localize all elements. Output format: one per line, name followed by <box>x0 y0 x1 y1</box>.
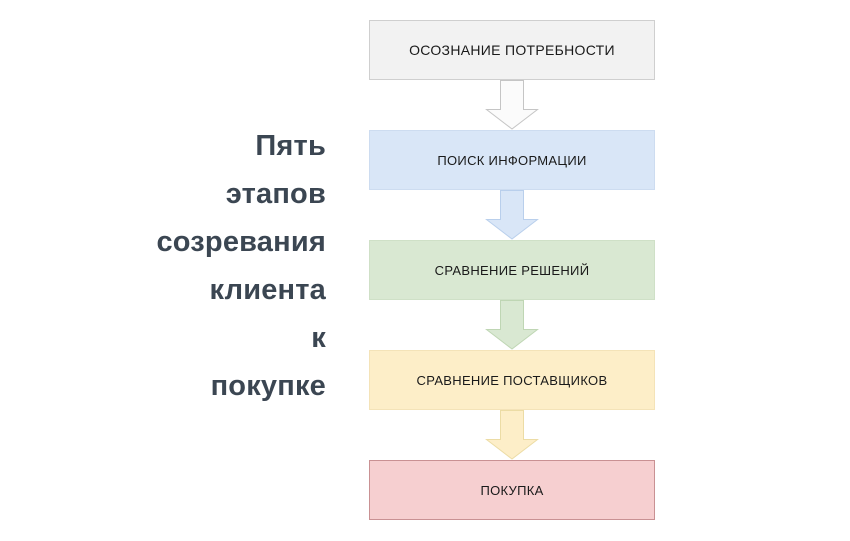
arrow-down-icon <box>487 301 538 350</box>
title-line-5: к <box>120 314 326 362</box>
title-line-3: созревания <box>120 218 326 266</box>
flow-arrow-2 <box>482 190 542 240</box>
arrow-down-icon <box>487 411 538 460</box>
flow-arrow-3 <box>482 300 542 350</box>
stage-box-1[interactable]: ОСОЗНАНИЕ ПОТРЕБНОСТИ <box>369 20 655 80</box>
stage-box-4[interactable]: СРАВНЕНИЕ ПОСТАВЩИКОВ <box>369 350 655 410</box>
flowchart: ОСОЗНАНИЕ ПОТРЕБНОСТИ ПОИСК ИНФОРМАЦИИ С… <box>369 20 655 521</box>
arrow-down-icon <box>487 81 538 130</box>
page-title: Пять этапов созревания клиента к покупке <box>120 122 326 410</box>
stage-label-2: ПОИСК ИНФОРМАЦИИ <box>437 153 586 168</box>
title-line-1: Пять <box>120 122 326 170</box>
flow-arrow-1 <box>482 80 542 130</box>
title-line-2: этапов <box>120 170 326 218</box>
arrow-down-icon <box>487 191 538 240</box>
stage-label-1: ОСОЗНАНИЕ ПОТРЕБНОСТИ <box>409 42 615 58</box>
stage-label-5: ПОКУПКА <box>480 483 543 498</box>
diagram-canvas: Пять этапов созревания клиента к покупке… <box>0 0 850 541</box>
stage-box-2[interactable]: ПОИСК ИНФОРМАЦИИ <box>369 130 655 190</box>
stage-label-3: СРАВНЕНИЕ РЕШЕНИЙ <box>435 263 590 278</box>
flow-arrow-4 <box>482 410 542 460</box>
stage-box-5[interactable]: ПОКУПКА <box>369 460 655 520</box>
stage-box-3[interactable]: СРАВНЕНИЕ РЕШЕНИЙ <box>369 240 655 300</box>
title-line-6: покупке <box>120 362 326 410</box>
stage-label-4: СРАВНЕНИЕ ПОСТАВЩИКОВ <box>417 373 608 388</box>
title-line-4: клиента <box>120 266 326 314</box>
